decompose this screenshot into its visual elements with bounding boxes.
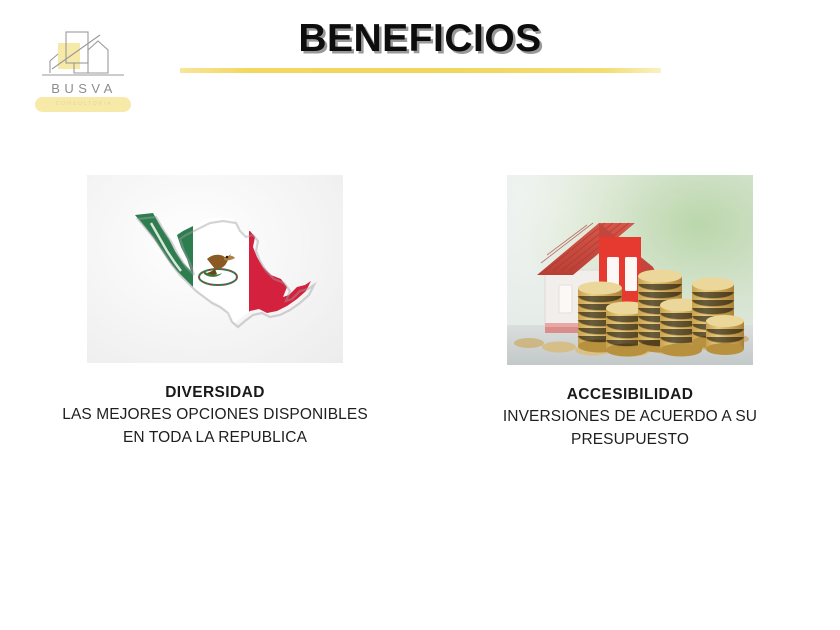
logo-wordmark: BUSVA — [28, 82, 136, 96]
benefit-caption-accesibilidad: ACCESIBILIDAD INVERSIONES DE ACUERDO A S… — [420, 384, 840, 451]
company-logo: BUSVA CONSULTORIA — [28, 26, 136, 122]
coin-stack — [706, 315, 744, 355]
benefit-body-line: INVERSIONES DE ACUERDO A SU — [434, 406, 826, 429]
title-underline-rule — [180, 68, 661, 73]
logo-tagline: CONSULTORIA — [35, 98, 131, 111]
mexico-map-flag-image — [87, 175, 343, 363]
benefit-column-accesibilidad: ACCESIBILIDAD INVERSIONES DE ACUERDO A S… — [420, 175, 840, 451]
buildings-outline-icon — [28, 26, 136, 82]
benefit-column-diversidad: DIVERSIDAD LAS MEJORES OPCIONES DISPONIB… — [0, 175, 430, 449]
house-and-coins-image — [507, 175, 753, 365]
benefit-body-line: EN TODA LA REPUBLICA — [14, 427, 416, 450]
benefit-heading: DIVERSIDAD — [0, 382, 430, 404]
benefit-heading: ACCESIBILIDAD — [420, 384, 840, 406]
slide-canvas: BUSVA CONSULTORIA BENEFICIOS — [0, 0, 840, 630]
benefit-body: LAS MEJORES OPCIONES DISPONIBLES EN TODA… — [0, 404, 430, 449]
benefit-caption-diversidad: DIVERSIDAD LAS MEJORES OPCIONES DISPONIB… — [0, 382, 430, 449]
benefit-body-line: LAS MEJORES OPCIONES DISPONIBLES — [14, 404, 416, 427]
benefit-body: INVERSIONES DE ACUERDO A SU PRESUPUESTO — [420, 406, 840, 451]
benefit-body-line: PRESUPUESTO — [434, 429, 826, 452]
page-title: BENEFICIOS — [170, 17, 670, 61]
